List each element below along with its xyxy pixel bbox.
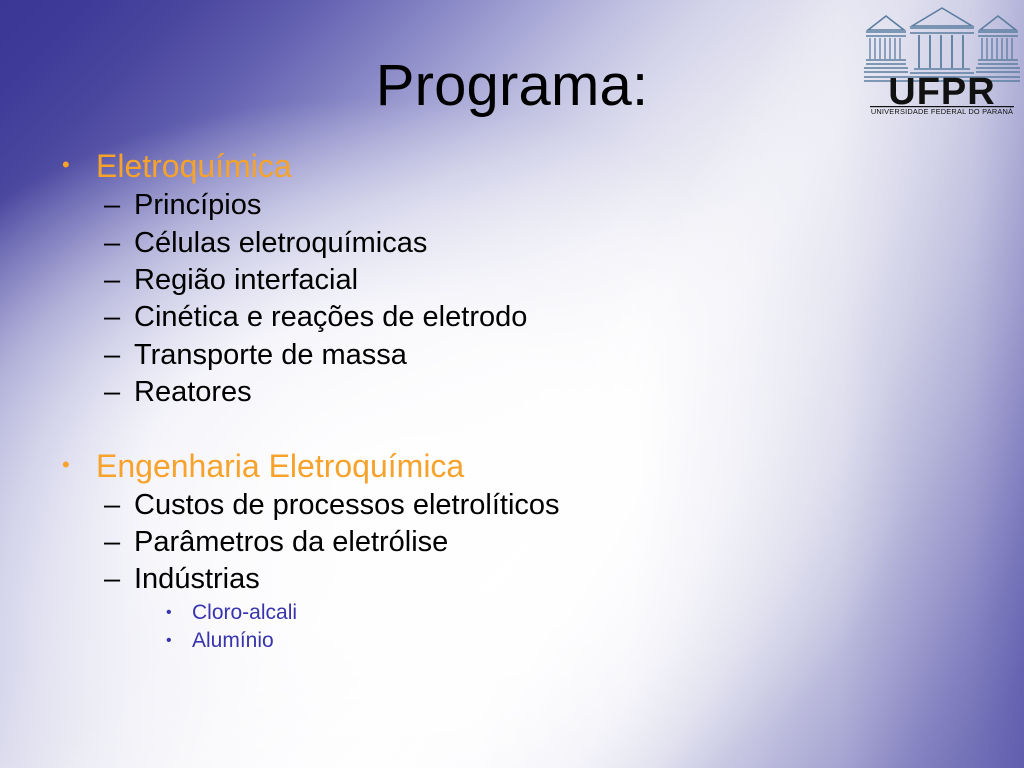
outline-item-label: Alumínio xyxy=(192,627,986,655)
level2-dash-icon: – xyxy=(104,524,134,561)
outline-group-spacer xyxy=(56,412,986,448)
level3-bullet-icon: • xyxy=(166,599,192,627)
outline-item-level2[interactable]: – Cinética e reações de eletrodo xyxy=(104,299,986,336)
outline-item-level2[interactable]: – Indústrias xyxy=(104,561,986,598)
level2-dash-icon: – xyxy=(104,337,134,374)
outline-item-label: Células eletroquímicas xyxy=(134,225,986,262)
outline-item-label: Princípios xyxy=(134,187,986,224)
outline-item-level2[interactable]: – Células eletroquímicas xyxy=(104,225,986,262)
outline-item-label: Indústrias xyxy=(134,561,986,598)
outline-item-label: Reatores xyxy=(134,374,986,411)
outline-item-level3[interactable]: • Cloro-alcali xyxy=(166,599,986,627)
level1-bullet-icon: • xyxy=(56,448,96,482)
level2-dash-icon: – xyxy=(104,299,134,336)
level2-dash-icon: – xyxy=(104,374,134,411)
outline-item-level1[interactable]: • Eletroquímica xyxy=(56,148,986,185)
outline-item-level3[interactable]: • Alumínio xyxy=(166,627,986,655)
outline-item-label: Parâmetros da eletrólise xyxy=(134,524,986,561)
outline-item-label: Transporte de massa xyxy=(134,337,986,374)
slide-canvas: UFPR UNIVERSIDADE FEDERAL DO PARANÁ Prog… xyxy=(0,0,1024,768)
outline-item-level2[interactable]: – Parâmetros da eletrólise xyxy=(104,524,986,561)
ufpr-subtitle: UNIVERSIDADE FEDERAL DO PARANÁ xyxy=(871,107,1013,114)
outline-item-label: Eletroquímica xyxy=(96,148,986,185)
outline-item-label: Engenharia Eletroquímica xyxy=(96,448,986,485)
outline-item-level2[interactable]: – Reatores xyxy=(104,374,986,411)
outline-item-label: Cinética e reações de eletrodo xyxy=(134,299,986,336)
outline-item-label: Custos de processos eletrolíticos xyxy=(134,487,986,524)
level2-dash-icon: – xyxy=(104,262,134,299)
outline-item-label: Cloro-alcali xyxy=(192,599,986,627)
outline-item-level2[interactable]: – Princípios xyxy=(104,187,986,224)
outline-item-level2[interactable]: – Transporte de massa xyxy=(104,337,986,374)
level2-dash-icon: – xyxy=(104,225,134,262)
outline-item-level1[interactable]: • Engenharia Eletroquímica xyxy=(56,448,986,485)
level2-dash-icon: – xyxy=(104,561,134,598)
level2-dash-icon: – xyxy=(104,487,134,524)
ufpr-logo: UFPR UNIVERSIDADE FEDERAL DO PARANÁ xyxy=(862,2,1022,114)
level2-dash-icon: – xyxy=(104,187,134,224)
outline-item-level2[interactable]: – Região interfacial xyxy=(104,262,986,299)
outline-item-label: Região interfacial xyxy=(134,262,986,299)
level3-bullet-icon: • xyxy=(166,627,192,655)
outline-item-level2[interactable]: – Custos de processos eletrolíticos xyxy=(104,487,986,524)
slide-body: • Eletroquímica – Princípios – Células e… xyxy=(56,148,986,655)
level1-bullet-icon: • xyxy=(56,148,96,182)
